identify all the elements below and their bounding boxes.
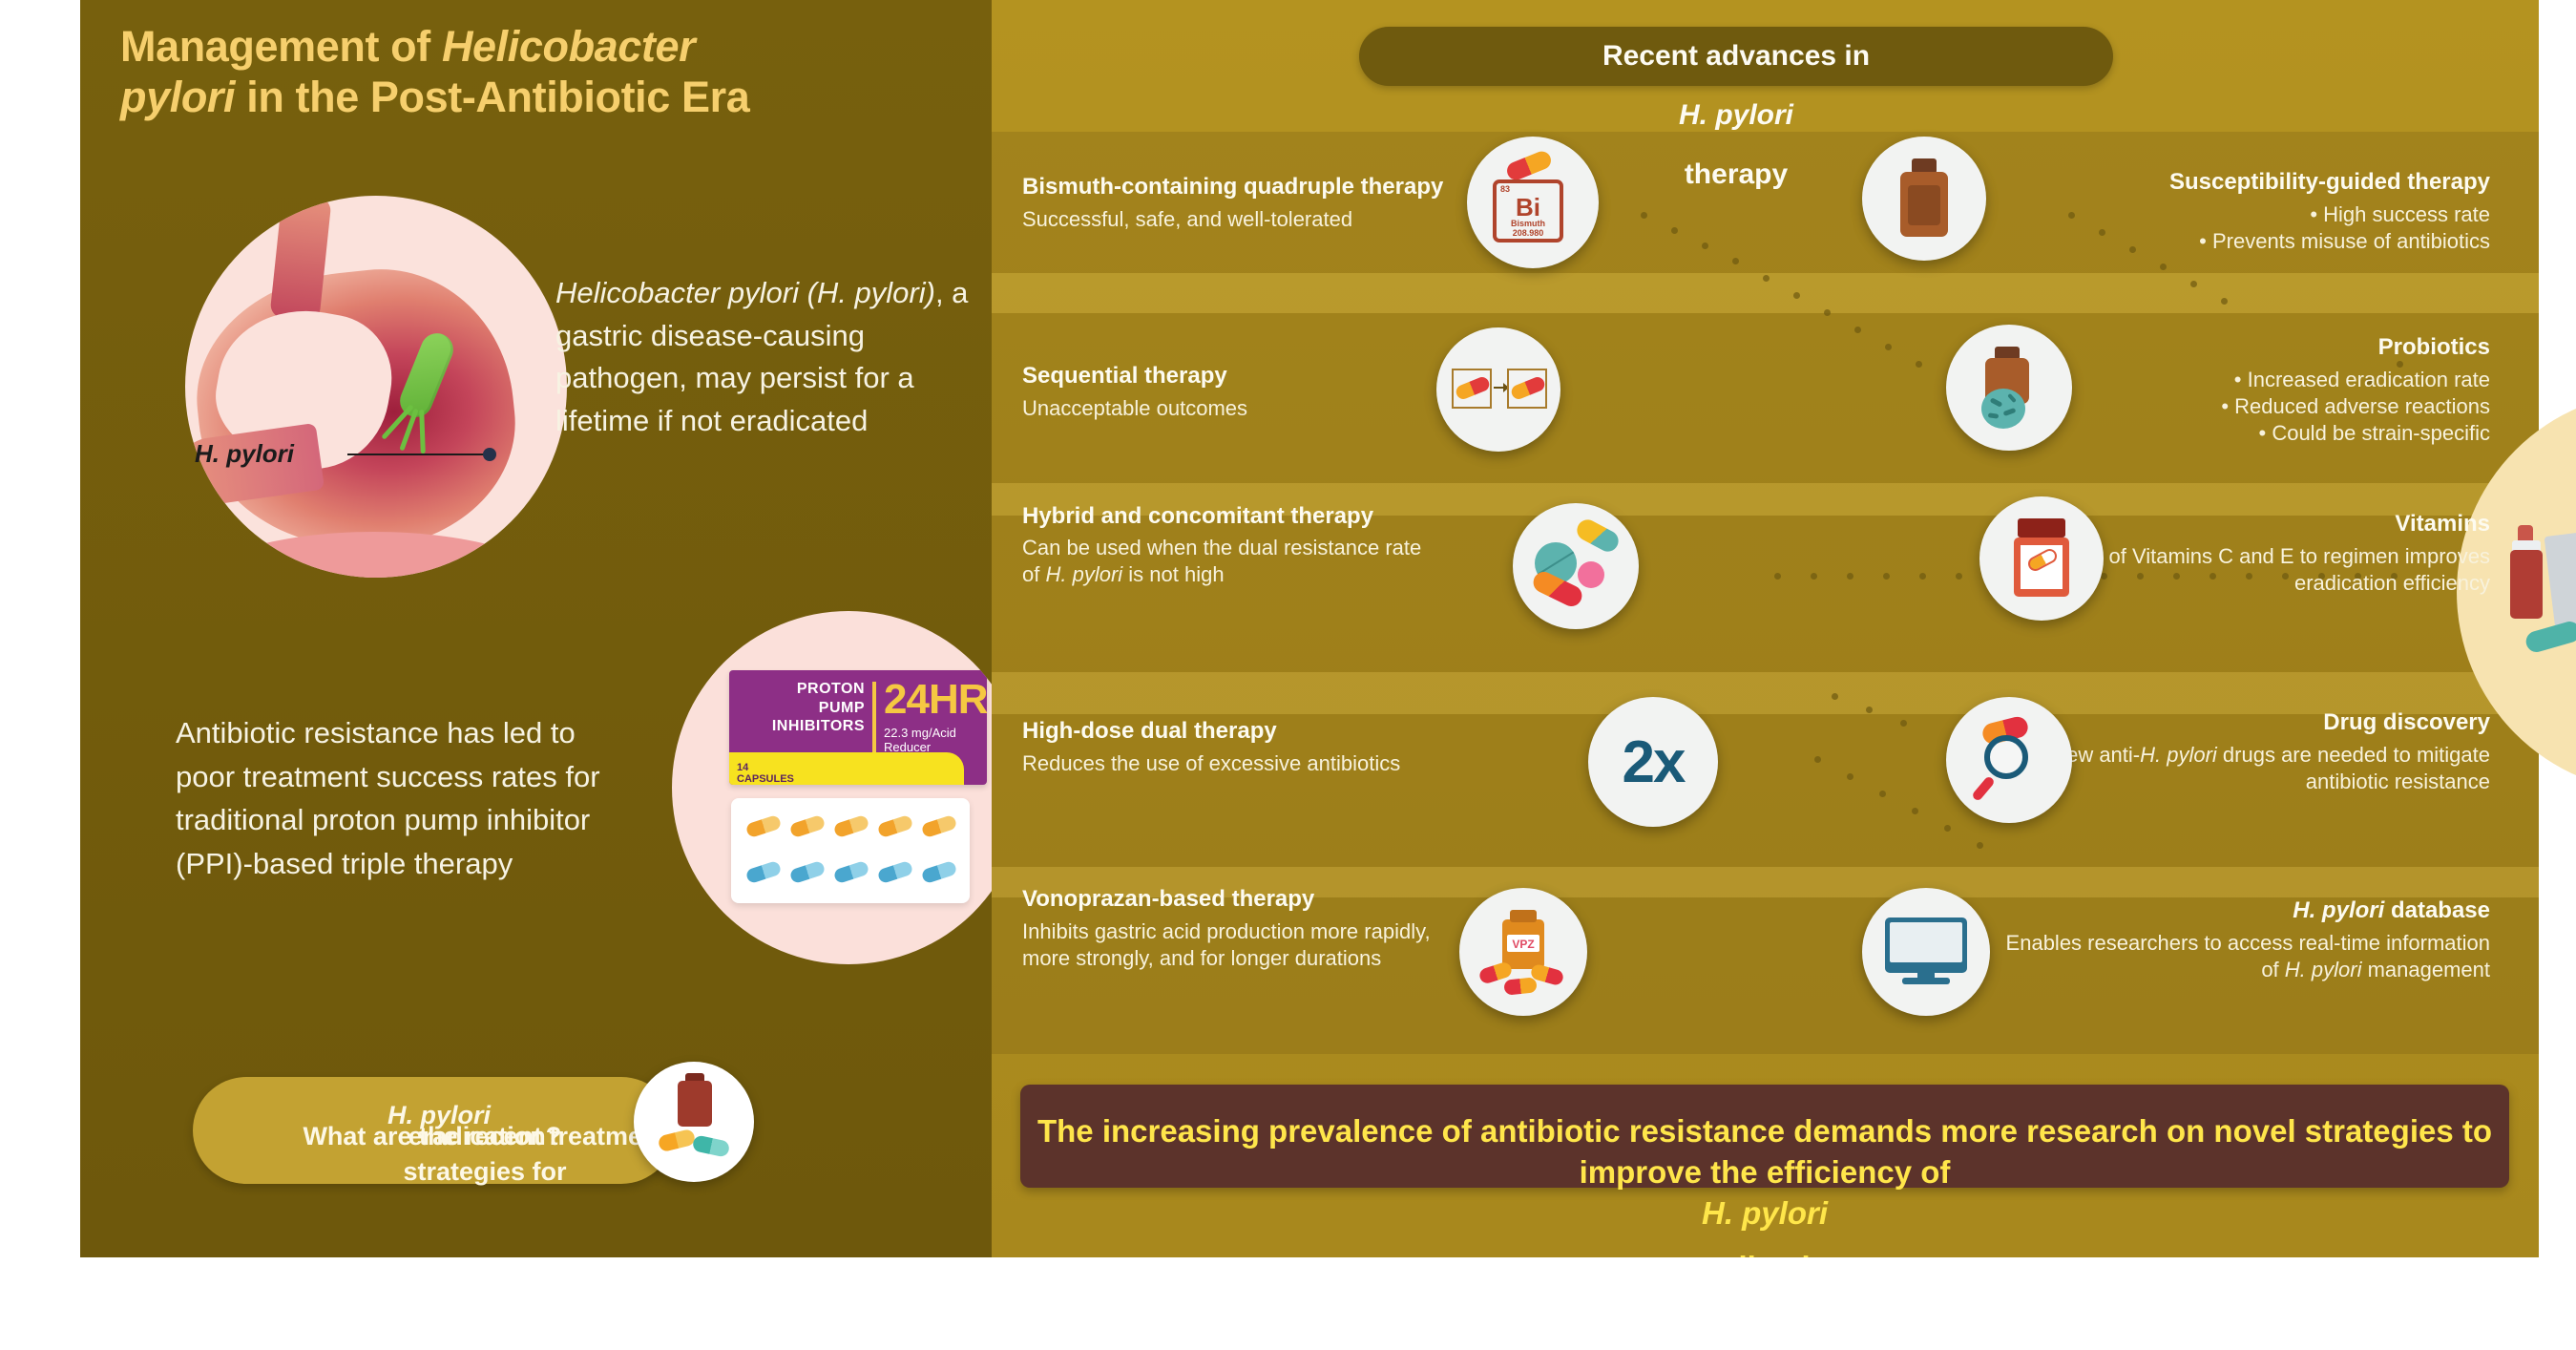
- capsule: [789, 814, 827, 838]
- round-tablet-pink: [1578, 561, 1604, 588]
- item-drug-discovery: Drug discovery New anti-H. pylori drugs …: [2003, 709, 2490, 795]
- adhesive-bandage: [2524, 619, 2576, 654]
- magnifier-lens: [1984, 735, 2028, 779]
- capsule-frame-2: [1507, 369, 1547, 409]
- key-italic: H. pylori: [1702, 1195, 1828, 1231]
- item-h-pylori-database: H. pylori database Enables researchers t…: [2003, 897, 2490, 983]
- flagellum-c: [419, 410, 426, 454]
- desc-italic: H. pylori: [2140, 743, 2217, 767]
- desc-post: management: [2361, 958, 2490, 981]
- key-pre: The increasing prevalence of antibiotic …: [1020, 1098, 2509, 1193]
- monitor-frame: [1885, 918, 1967, 973]
- item-title: Drug discovery: [2003, 709, 2490, 737]
- item-description: Successful, safe, and well-tolerated: [1022, 206, 1480, 233]
- ppi-hours: 24HR: [884, 676, 987, 724]
- antibiotic-resistance-paragraph: Antibiotic resistance has led to poor tr…: [176, 711, 634, 885]
- stomach-circle: [185, 196, 567, 578]
- jar-body: [2014, 538, 2069, 597]
- element-box: 83 Bi Bismuth 208.980: [1493, 179, 1563, 243]
- title-italic: H. pylori: [2293, 897, 2384, 923]
- lower-tissue-shape: [193, 532, 555, 578]
- bacteria-cluster: [1981, 389, 2025, 429]
- item-title: Vonoprazan-based therapy: [1022, 886, 1480, 914]
- item-title: Probiotics: [2003, 334, 2490, 362]
- capsule-yellow-teal: [1574, 516, 1623, 555]
- item-bullet: • High success rate: [2003, 201, 2490, 228]
- vpz-bottle-body: VPZ: [1502, 919, 1544, 969]
- computer-monitor-icon: [1862, 888, 1990, 1016]
- desc-post: drugs are needed to mitigate antibiotic …: [2217, 743, 2490, 793]
- item-description: Unacceptable outcomes: [1022, 395, 1442, 422]
- capsule: [921, 814, 958, 838]
- footer: Recent progress in Helicobacter pylori t…: [0, 1257, 2576, 1350]
- assorted-pills-icon: [1513, 503, 1639, 629]
- item-title: Susceptibility-guided therapy: [2003, 169, 2490, 197]
- ppi-dose: 22.3 mg/Acid Reducer: [884, 726, 987, 754]
- ppi-line1: PROTON: [797, 681, 865, 697]
- capsule-frame-1: [1452, 369, 1492, 409]
- intro-italic-binomial: Helicobacter pylori (H. pylori): [555, 276, 935, 309]
- h-pylori-bacterium-icon: [382, 331, 464, 436]
- item-description: New anti-H. pylori drugs are needed to m…: [2003, 742, 2490, 795]
- ppi-count-number: 14: [737, 762, 748, 773]
- ppi-count: 14 CAPSULES: [737, 762, 794, 785]
- capsule: [877, 860, 914, 884]
- element-mass: 208.980: [1497, 228, 1560, 238]
- capsule: [789, 860, 827, 884]
- capsule: [877, 814, 914, 838]
- ppi-count-unit: CAPSULES: [737, 773, 794, 785]
- item-sequential-therapy: Sequential therapy Unacceptable outcomes: [1022, 363, 1442, 422]
- cross-icon: [732, 1113, 745, 1127]
- item-description: Reduces the use of excessive antibiotics: [1022, 750, 1433, 777]
- item-description: Enables researchers to access real-time …: [2003, 930, 2490, 983]
- bottle-body: [678, 1081, 712, 1127]
- item-bullet: • Increased eradication rate: [2003, 367, 2490, 393]
- bismuth-element-icon: 83 Bi Bismuth 208.980: [1467, 137, 1599, 268]
- capsule: [745, 814, 783, 838]
- capsule: [833, 814, 870, 838]
- vitamin-jar-capsule-icon: [1979, 496, 2104, 621]
- title-genus: Helicobacter: [442, 22, 695, 71]
- item-vonoprazan-based-therapy: Vonoprazan-based therapy Inhibits gastri…: [1022, 886, 1480, 972]
- stomach-illustration: H. pylori: [185, 196, 567, 592]
- medicine-bottle-capsules-icon: [634, 1062, 754, 1182]
- section-header-banner: Recent advances in H. pylori therapy: [1359, 27, 2113, 86]
- two-capsules-sequence-icon: [1436, 327, 1560, 452]
- banner-italic: H. pylori: [1679, 99, 1793, 131]
- ppi-line3: INHIBITORS: [772, 718, 865, 734]
- ppi-capsule-tray: [731, 798, 970, 903]
- bacterium-body: [395, 328, 458, 422]
- magnifier-pill-icon: [1946, 697, 2072, 823]
- infographic-poster: Management of Helicobacter pylori in the…: [0, 0, 2576, 1350]
- capsule: [1503, 977, 1537, 995]
- ppi-illustration: PROTON PUMP INHIBITORS 24HR 22.3 mg/Acid…: [672, 611, 1025, 964]
- item-bullet: • Prevents misuse of antibiotics: [2003, 228, 2490, 255]
- two-times-label: 2x: [1623, 728, 1685, 796]
- capsule: [833, 860, 870, 884]
- probiotic-bottle-bacteria-icon: [1946, 325, 2072, 451]
- right-panel: Recent advances in H. pylori therapy: [992, 0, 2539, 1257]
- item-susceptibility-guided-therapy: Susceptibility-guided therapy • High suc…: [2003, 169, 2490, 255]
- desc-italic: H. pylori: [2285, 958, 2362, 981]
- left-panel: Management of Helicobacter pylori in the…: [80, 0, 992, 1257]
- bottle-body: [1900, 172, 1948, 237]
- element-name: Bismuth: [1497, 219, 1560, 228]
- h-pylori-callout-label: H. pylori: [195, 439, 414, 469]
- jar-cap: [2018, 518, 2065, 538]
- monitor-base: [1902, 978, 1950, 984]
- magnifier-handle: [1971, 775, 1996, 802]
- vpz-label: VPZ: [1502, 938, 1544, 951]
- item-hybrid-concomitant-therapy: Hybrid and concomitant therapy Can be us…: [1022, 503, 1423, 588]
- title-post: database: [2384, 897, 2490, 923]
- capsule: [745, 860, 783, 884]
- title-part-plain2: in the Post-Antibiotic Era: [235, 73, 749, 121]
- leader-dot: [483, 448, 496, 461]
- capsule: [921, 860, 958, 884]
- item-high-dose-dual-therapy: High-dose dual therapy Reduces the use o…: [1022, 718, 1433, 777]
- vpz-bottle-cap: [1510, 910, 1537, 922]
- two-times-icon: 2x: [1588, 697, 1718, 827]
- item-description: Can be used when the dual resistance rat…: [1022, 535, 1423, 588]
- item-title: Sequential therapy: [1022, 363, 1442, 390]
- item-title: High-dose dual therapy: [1022, 718, 1433, 746]
- item-description: Inhibits gastric acid production more ra…: [1022, 918, 1480, 972]
- title-species: pylori: [120, 73, 235, 121]
- title-part-plain1: Management of: [120, 22, 442, 71]
- ppi-line2: PUMP: [819, 700, 865, 716]
- row-band-divider-1: [992, 273, 2539, 313]
- vonoprazan-bottle-icon: VPZ: [1459, 888, 1587, 1016]
- item-probiotics: Probiotics • Increased eradication rate …: [2003, 334, 2490, 447]
- banner-pre: Recent advances in: [1359, 27, 2113, 86]
- brown-medicine-bottle-icon: [1862, 137, 1986, 261]
- question-text: What are the recent treatment strategies…: [239, 1098, 639, 1133]
- ppi-package-name: PROTON PUMP INHIBITORS: [741, 680, 865, 736]
- capsule-orange: [658, 1129, 697, 1153]
- item-title: H. pylori database: [2003, 897, 2490, 925]
- item-bullet: • Could be strain-specific: [2003, 420, 2490, 447]
- capsule-teal: [692, 1134, 731, 1158]
- question-post: eradication?: [284, 1119, 685, 1154]
- desc-post: is not high: [1122, 562, 1224, 586]
- item-bismuth-quadruple-therapy: Bismuth-containing quadruple therapy Suc…: [1022, 174, 1480, 233]
- item-bullet: • Reduced adverse reactions: [2003, 393, 2490, 420]
- row-band-divider-3: [992, 672, 2539, 714]
- desc-italic: H. pylori: [1045, 562, 1122, 586]
- dropper-bottle: [2510, 550, 2543, 619]
- key-message-banner: The increasing prevalence of antibiotic …: [1020, 1085, 2509, 1188]
- item-title: Hybrid and concomitant therapy: [1022, 503, 1423, 531]
- intro-paragraph: Helicobacter pylori (H. pylori), a gastr…: [555, 272, 1004, 443]
- item-title: Bismuth-containing quadruple therapy: [1022, 174, 1480, 201]
- page-title: Management of Helicobacter pylori in the…: [120, 21, 960, 122]
- capsule-shape: [1504, 149, 1554, 183]
- question-bubble: What are the recent treatment strategies…: [193, 1077, 675, 1184]
- ppi-package: PROTON PUMP INHIBITORS 24HR 22.3 mg/Acid…: [729, 670, 987, 785]
